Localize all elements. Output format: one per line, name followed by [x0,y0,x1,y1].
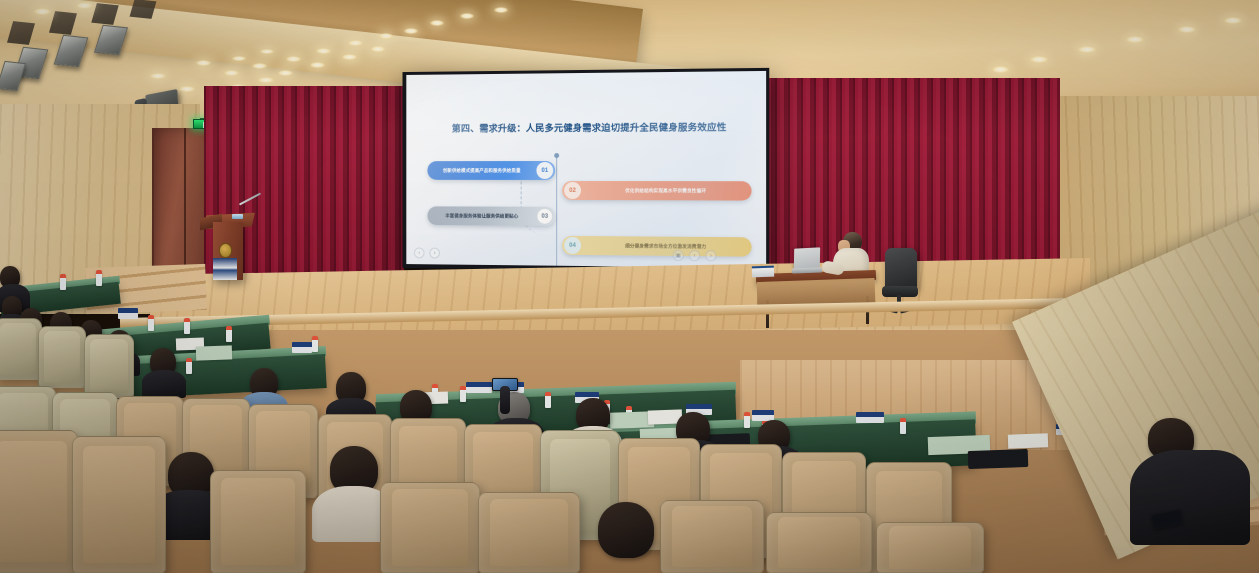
ceiling-downlight [1030,56,1048,63]
ceiling-downlight [371,46,385,52]
empty-office-chair[interactable] [885,248,917,290]
ceiling-downlight [252,63,267,69]
raised-arm [500,386,510,414]
slide-item-03: 丰富健身服务体验让服务供给更贴心 03 [427,206,555,225]
document-paper [1008,433,1048,448]
water-bottle [900,418,906,434]
audience-shoulders [1130,450,1250,545]
ceiling-downlight [430,20,444,26]
seat-cushion [392,489,468,566]
slide-item-04-text: 细分健身需求市场全方位激发消费潜力 [581,242,752,250]
seat-cushion [44,331,80,383]
slide-axis-dot-top [554,153,559,158]
auditorium-seat[interactable] [660,500,764,573]
prev-slide-icon[interactable]: ‹ [689,250,700,261]
slide-item-01: 创新供给模式提高产品和服务供给质量 01 [427,161,555,180]
laptop-keyboard[interactable] [792,267,822,273]
ceiling-downlight [179,86,195,92]
ceiling-downlight [316,48,331,54]
ceiling-downlight [342,54,357,60]
ceiling-downlight [278,70,293,76]
ceiling-downlight [310,62,325,68]
seat-cushion [778,517,859,568]
ceiling-downlight [992,66,1009,73]
delegate-nameplate [118,308,138,319]
auditorium-seat[interactable] [72,436,166,573]
water-bottle [148,315,154,331]
ceiling-downlight [150,73,166,79]
ceiling-downlight [1224,17,1242,24]
seat-cushion [90,339,127,392]
auditorium-seat[interactable] [0,430,78,573]
water-bottle [60,274,66,290]
ceiling-downlight [494,7,508,13]
auditorium-seat[interactable] [84,334,134,398]
slide-item-01-text: 创新供给模式提高产品和服务供给质量 [427,168,536,174]
slide-item-01-number: 01 [536,162,553,179]
slide-title: 第四、需求升级：人民多元健身需求迫切提升全民健身服务效应性 [435,122,744,135]
ceiling-downlight [379,33,393,39]
water-bottle [96,270,102,286]
ceiling-downlight [460,13,474,19]
slide-item-02-number: 02 [564,182,581,199]
auditorium-seat[interactable] [210,470,306,573]
ceiling-downlight [34,8,51,15]
slide-item-02-text: 优化供给结构实现高水平供需良性循环 [581,187,752,193]
seat-cushion [221,478,294,565]
ceiling-downlight [1178,26,1196,33]
slide-nav-left[interactable]: ‹ › [414,247,440,258]
ceiling-downlight [1078,46,1096,53]
auditorium-seat[interactable] [38,326,86,388]
next-slide-icon[interactable]: › [429,248,440,259]
slide-item-03-number: 03 [536,208,553,225]
ceiling-downlight [260,49,274,54]
auditorium-photo: 第四、需求升级：人民多元健身需求迫切提升全民健身服务效应性 创新供给模式提高产品… [0,0,1259,573]
water-bottle [184,318,190,334]
seat-cushion [490,499,568,567]
auditorium-seat[interactable] [876,522,984,573]
present-icon[interactable]: ▣ [673,250,684,261]
ceiling-downlight [348,40,363,46]
ceiling-downlight [232,56,246,61]
document-paper [196,345,232,360]
ceiling-downlight [258,77,274,83]
ceiling-downlight [1126,36,1144,43]
delegate-nameplate [292,342,312,353]
podium-sign [213,258,237,280]
seat-cushion [889,526,972,568]
ceiling-downlight [404,28,418,34]
ceiling-downlight [76,2,93,9]
podium-emblem [219,243,232,258]
delegate-nameplate [856,412,884,423]
auditorium-seat[interactable] [380,482,480,573]
projection-screen[interactable]: 第四、需求升级：人民多元健身需求迫切提升全民健身服务效应性 创新供给模式提高产品… [406,71,766,268]
projection-screen-frame: 第四、需求升级：人民多元健身需求迫切提升全民健身服务效应性 创新供给模式提高产品… [402,68,769,272]
slide-item-02: 优化供给结构实现高水平供需良性循环 02 [562,181,751,201]
slide-item-03-text: 丰富健身服务体验让服务供给更贴心 [427,213,536,220]
auditorium-seat[interactable] [766,512,872,573]
laptop-screen [794,247,820,269]
tablet-device[interactable] [968,449,1029,469]
slide-nav-right[interactable]: ▣ ‹ › [673,250,717,262]
name-card [752,266,774,278]
ceiling-downlight [224,70,239,76]
water-bottle [186,358,192,374]
audience-shoulders [142,370,186,398]
seat-cushion [672,506,752,567]
podium-display [232,214,243,219]
delegate-nameplate [466,382,492,393]
seat-cushion [0,323,36,375]
seat-cushion [0,441,67,562]
water-bottle [312,336,318,352]
ceiling-downlight [286,56,301,62]
prev-slide-icon[interactable]: ‹ [414,247,425,258]
water-bottle [226,326,232,342]
audience-head [598,502,654,558]
auditorium-seat[interactable] [0,318,42,380]
auditorium-seat[interactable] [478,492,580,573]
slide-item-04-number: 04 [564,237,581,254]
water-bottle [545,392,551,408]
next-slide-icon[interactable]: › [705,250,716,261]
water-bottle [744,412,750,428]
ceiling-recess [7,21,35,45]
seat-cushion [83,446,155,562]
slide-item-04: 细分健身需求市场全方位激发消费潜力 04 [562,236,751,257]
ceiling-downlight [196,60,211,66]
